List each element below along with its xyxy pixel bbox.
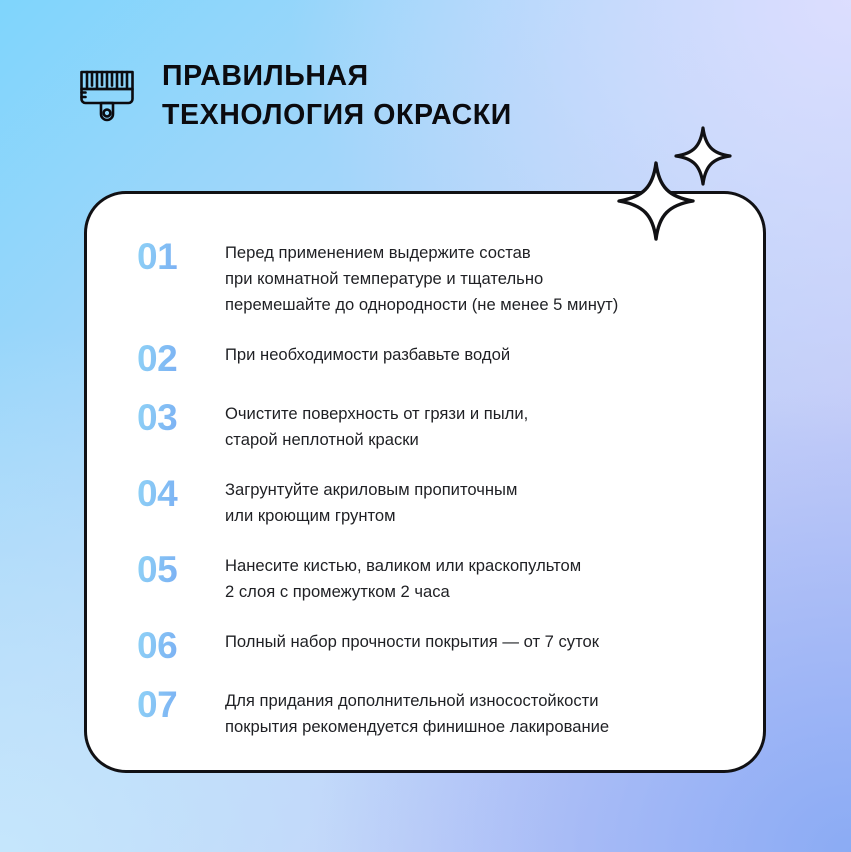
step-text: Нанесите кистью, валиком или краскопульт…	[225, 551, 741, 605]
steps-card: 01 Перед применением выдержите состав пр…	[84, 191, 766, 773]
step-text: Для придания дополнительной износостойко…	[225, 686, 741, 740]
list-item: 06 Полный набор прочности покрытия — от …	[137, 627, 741, 665]
step-text: Перед применением выдержите состав при к…	[225, 238, 741, 318]
title-line-1: ПРАВИЛЬНАЯ	[162, 57, 512, 96]
list-item: 07 Для придания дополнительной износосто…	[137, 686, 741, 740]
list-item: 04 Загрунтуйте акриловым пропиточным или…	[137, 475, 741, 529]
list-item: 05 Нанесите кистью, валиком или краскопу…	[137, 551, 741, 605]
paintbrush-icon	[74, 61, 140, 127]
step-number: 03	[137, 399, 225, 437]
step-number: 06	[137, 627, 225, 665]
list-item: 01 Перед применением выдержите состав пр…	[137, 238, 741, 318]
step-number: 02	[137, 340, 225, 378]
step-text: Загрунтуйте акриловым пропиточным или кр…	[225, 475, 741, 529]
steps-list: 01 Перед применением выдержите состав пр…	[137, 238, 741, 740]
header: ПРАВИЛЬНАЯ ТЕХНОЛОГИЯ ОКРАСКИ	[74, 57, 512, 135]
step-text: Очистите поверхность от грязи и пыли, ст…	[225, 399, 741, 453]
step-number: 05	[137, 551, 225, 589]
title-line-2: ТЕХНОЛОГИЯ ОКРАСКИ	[162, 96, 512, 135]
infographic-poster: ПРАВИЛЬНАЯ ТЕХНОЛОГИЯ ОКРАСКИ 01 Перед п…	[0, 0, 851, 852]
page-title: ПРАВИЛЬНАЯ ТЕХНОЛОГИЯ ОКРАСКИ	[162, 57, 512, 135]
step-number: 07	[137, 686, 225, 724]
step-text: При необходимости разбавьте водой	[225, 340, 741, 368]
list-item: 02 При необходимости разбавьте водой	[137, 340, 741, 378]
step-number: 04	[137, 475, 225, 513]
step-text: Полный набор прочности покрытия — от 7 с…	[225, 627, 741, 655]
sparkle-icon	[674, 126, 732, 186]
list-item: 03 Очистите поверхность от грязи и пыли,…	[137, 399, 741, 453]
step-number: 01	[137, 238, 225, 276]
